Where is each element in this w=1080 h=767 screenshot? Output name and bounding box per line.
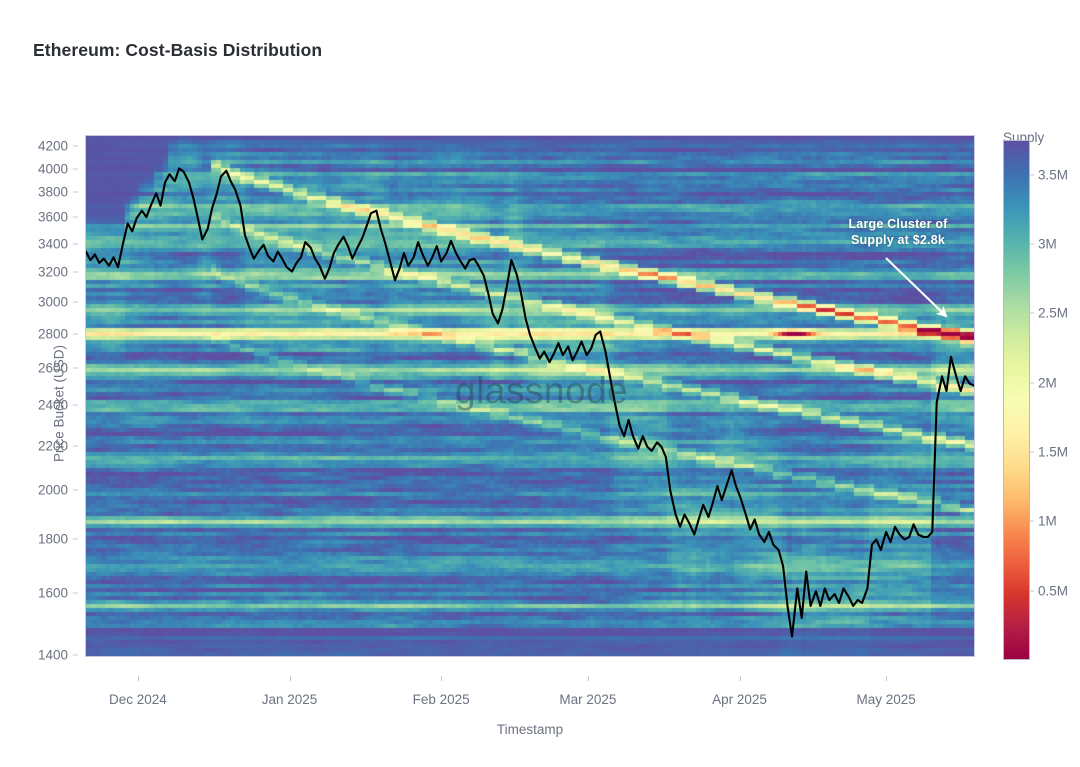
colorbar-ticks: 3.5M3M2.5M2M1.5M1M0.5M	[1030, 0, 1080, 767]
colorbar-tick-mark	[1030, 313, 1034, 314]
colorbar-tick-mark	[1030, 452, 1034, 453]
x-tick-mark	[740, 676, 741, 681]
x-tick-label: Mar 2025	[528, 692, 648, 707]
x-tick-mark	[441, 676, 442, 681]
colorbar-gradient[interactable]	[1003, 140, 1030, 660]
x-axis-title: Timestamp	[430, 722, 630, 737]
colorbar-tick-mark	[1030, 521, 1034, 522]
colorbar-tick-mark	[1030, 174, 1034, 175]
x-axis: Timestamp Dec 2024Jan 2025Feb 2025Mar 20…	[0, 0, 1080, 767]
x-tick-label: Jan 2025	[230, 692, 350, 707]
colorbar-tick-label: 0.5M	[1038, 583, 1068, 598]
x-tick-label: May 2025	[826, 692, 946, 707]
chart-root: Ethereum: Cost-Basis Distribution glassn…	[0, 0, 1080, 767]
colorbar-tick-label: 3M	[1038, 237, 1057, 252]
x-tick-mark	[138, 676, 139, 681]
x-tick-mark	[886, 676, 887, 681]
colorbar-tick-label: 2M	[1038, 375, 1057, 390]
x-tick-label: Apr 2025	[680, 692, 800, 707]
colorbar-tick-mark	[1030, 382, 1034, 383]
colorbar-tick-label: 1.5M	[1038, 445, 1068, 460]
colorbar-tick-label: 1M	[1038, 514, 1057, 529]
x-tick-mark	[290, 676, 291, 681]
colorbar-tick-label: 3.5M	[1038, 167, 1068, 182]
x-tick-label: Dec 2024	[78, 692, 198, 707]
x-tick-mark	[588, 676, 589, 681]
x-tick-label: Feb 2025	[381, 692, 501, 707]
colorbar-tick-label: 2.5M	[1038, 306, 1068, 321]
colorbar-tick-mark	[1030, 244, 1034, 245]
colorbar-tick-mark	[1030, 590, 1034, 591]
